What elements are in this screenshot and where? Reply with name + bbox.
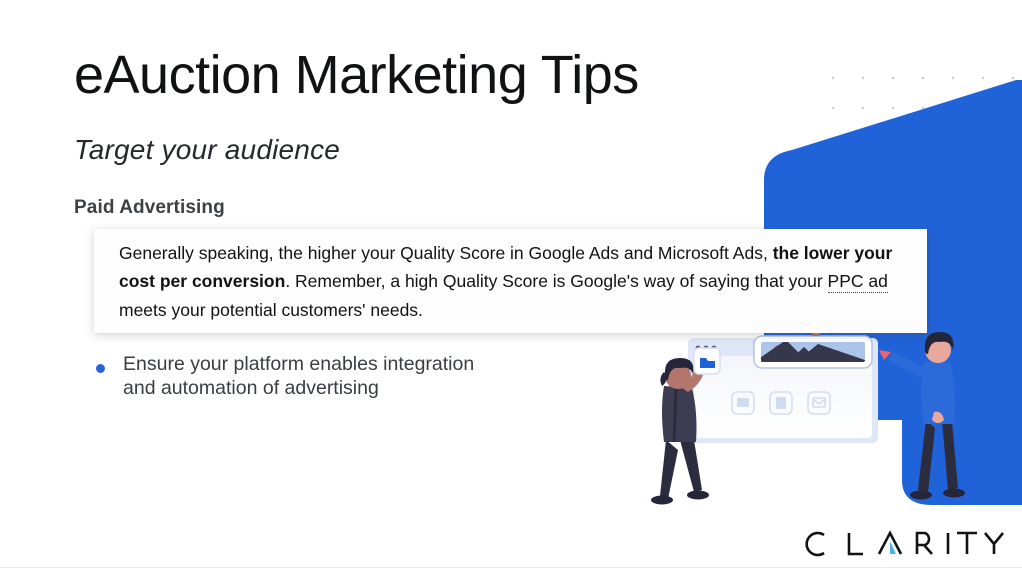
person-right [888, 332, 965, 500]
list-item: Ensure your platform enables integration… [96, 353, 474, 400]
callout-segment-5: meets your potential customers' needs. [119, 300, 423, 320]
callout-term-ppc-ad: PPC ad [828, 271, 888, 293]
callout-card: Generally speaking, the higher your Qual… [94, 229, 927, 333]
bullet-dot-icon [96, 364, 105, 373]
callout-segment-1: Generally speaking, the higher your Qual… [119, 243, 773, 263]
section-heading-paid-advertising: Paid Advertising [74, 197, 225, 219]
clarity-logo [805, 527, 1005, 561]
bullet-text: Ensure your platform enables integration… [123, 353, 474, 400]
callout-segment-3: . Remember, a high Quality Score is Goog… [285, 271, 827, 291]
page-title: eAuction Marketing Tips [74, 44, 639, 106]
callout-text: Generally speaking, the higher your Qual… [119, 239, 907, 324]
page-subtitle: Target your audience [74, 134, 340, 166]
bottom-divider [0, 567, 1022, 568]
slide-canvas: eAuction Marketing Tips Target your audi… [0, 0, 1022, 572]
bullet-line-2: and automation of advertising [123, 377, 474, 401]
bullet-line-1: Ensure your platform enables integration [123, 353, 474, 377]
marketing-illustration [636, 300, 1022, 530]
